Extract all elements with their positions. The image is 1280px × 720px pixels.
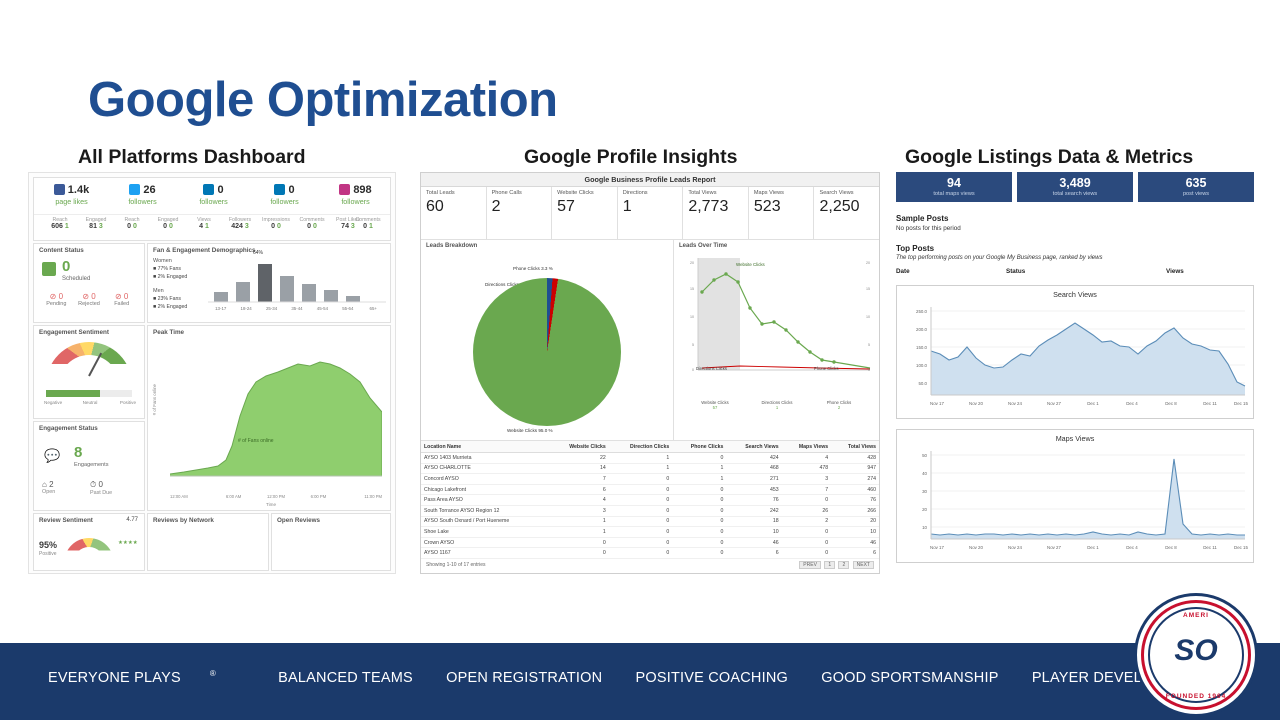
social-stat-facebook: 1.4k page likes xyxy=(36,184,107,206)
scheduled-value: 0 xyxy=(62,258,70,275)
svg-text:5: 5 xyxy=(868,343,870,347)
col-phone-clicks[interactable]: Phone Clicks xyxy=(672,441,726,453)
cell-metric: 0 xyxy=(609,548,672,559)
insights-charts-row: Leads Breakdown Phone Clicks 3.3 % Direc… xyxy=(421,239,879,440)
review-score: 4.77 xyxy=(126,517,138,523)
insights-report-header: Google Business Profile Leads Report xyxy=(421,173,879,187)
sentiment-scale-neu: Neutral xyxy=(75,400,106,405)
svg-text:50.0: 50.0 xyxy=(918,381,927,386)
age-bucket: 65+ xyxy=(361,306,386,311)
cell-metric: 0 xyxy=(549,548,609,559)
engagement-status-title: Engagement Status xyxy=(34,422,144,432)
pager-2[interactable]: 2 xyxy=(838,561,849,569)
cell-metric: 1 xyxy=(672,463,726,474)
cell-metric: 0 xyxy=(609,495,672,506)
cell-metric: 0 xyxy=(782,537,832,548)
sentiment-bar xyxy=(46,390,132,397)
table-row[interactable]: AYSO South Oxnard / Port Hueneme10018220 xyxy=(421,516,879,527)
leads-pie-chart xyxy=(473,278,621,426)
svg-text:15: 15 xyxy=(866,287,870,291)
leads-breakdown-section: Leads Breakdown Phone Clicks 3.3 % Direc… xyxy=(421,240,674,440)
logo-top-text: AMERI xyxy=(1137,612,1255,619)
table-row[interactable]: Pass Area AYSO40076076 xyxy=(421,495,879,506)
engagement-status-card: Engagement Status 💬 8 Engagements ⌂ 2Ope… xyxy=(33,421,145,511)
leads-over-time-title: Leads Over Time xyxy=(674,240,879,249)
age-bucket: 55-64 xyxy=(335,306,360,311)
footer-item-open-registration: OPEN REGISTRATION xyxy=(446,670,602,686)
cell-metric: 0 xyxy=(782,495,832,506)
table-header-row: Location Name Website Clicks Direction C… xyxy=(421,441,879,453)
cell-metric: 0 xyxy=(672,505,726,516)
cell-metric: 0 xyxy=(782,548,832,559)
legend-website: Website Clicks57 xyxy=(684,400,746,410)
svg-text:Dec 1: Dec 1 xyxy=(1087,545,1099,550)
search-views-chart-box: Search Views 250.0200.0150.0100.050.0 No… xyxy=(896,285,1254,419)
maps-views-chart-box: Maps Views 5040302010 Nov 17Nov 20Nov 24… xyxy=(896,429,1254,563)
table-row[interactable]: Concord AYSO7012713274 xyxy=(421,474,879,485)
col-date: Date xyxy=(896,268,1006,275)
column-title-dashboard: All Platforms Dashboard xyxy=(78,146,306,169)
insights-kpi-row: Total Leads60 Phone Calls2 Website Click… xyxy=(421,187,879,239)
cell-location: Concord AYSO xyxy=(421,474,549,485)
search-views-chart: 250.0200.0150.0100.050.0 Nov 17Nov 20Nov… xyxy=(897,299,1253,411)
pager-1[interactable]: 1 xyxy=(824,561,835,569)
pie-label-phone: Phone Clicks 3.3 % xyxy=(513,266,553,271)
cell-location: Shoe Lake xyxy=(421,527,549,538)
metric-search-views: 3,489total search views xyxy=(1017,172,1133,202)
age-bucket: 45-54 xyxy=(310,306,335,311)
peak-time-title: Peak Time xyxy=(148,326,390,336)
peak-time-chart xyxy=(170,342,382,492)
col-views: Views xyxy=(1166,268,1184,275)
svg-text:Dec 8: Dec 8 xyxy=(1165,401,1177,406)
cell-metric: 7 xyxy=(549,474,609,485)
cell-metric: 6 xyxy=(549,484,609,495)
svg-text:Dec 1: Dec 1 xyxy=(1087,401,1099,406)
cell-metric: 3 xyxy=(549,505,609,516)
cell-location: Chicago Lakefront xyxy=(421,484,549,495)
svg-text:0: 0 xyxy=(692,368,694,372)
svg-text:Nov 27: Nov 27 xyxy=(1047,401,1061,406)
cell-location: Crown AYSO xyxy=(421,537,549,548)
google-profile-insights-panel: Google Business Profile Leads Report Tot… xyxy=(420,172,880,574)
cell-metric: 22 xyxy=(549,453,609,464)
svg-text:15: 15 xyxy=(690,287,694,291)
svg-text:Nov 24: Nov 24 xyxy=(1008,401,1022,406)
kpi-search-views: Search Views2,250 xyxy=(814,187,879,239)
listings-metrics-row: 94total maps views 3,489total search vie… xyxy=(896,172,1254,202)
cell-metric: 1 xyxy=(609,463,672,474)
svg-text:5: 5 xyxy=(692,343,694,347)
cell-metric: 46 xyxy=(831,537,879,548)
cell-metric: 6 xyxy=(726,548,781,559)
logo-bottom-text: FOUNDED 1964 xyxy=(1137,693,1255,700)
sentiment-scale-neg: Negative xyxy=(44,400,75,405)
footer-item-everyone-plays: EVERYONE PLAYS® xyxy=(48,670,245,686)
social-stat-linkedin-page: 0 followers xyxy=(249,184,320,206)
open-reviews-title: Open Reviews xyxy=(272,514,390,524)
column-title-listings: Google Listings Data & Metrics xyxy=(905,146,1193,169)
cell-metric: 0 xyxy=(672,516,726,527)
cell-metric: 0 xyxy=(672,453,726,464)
svg-text:Dec 8: Dec 8 xyxy=(1165,545,1177,550)
men-label: Men xyxy=(153,288,164,294)
col-status: Status xyxy=(1006,268,1166,275)
leads-breakdown-title: Leads Breakdown xyxy=(421,240,673,249)
linkedin-page-icon xyxy=(274,184,285,195)
past-due-engagements: ⏱ 0Past Due xyxy=(90,480,138,496)
google-listings-panel: 94total maps views 3,489total search vie… xyxy=(896,172,1254,632)
table-row[interactable]: AYSO 1403 Murrieta22104244428 xyxy=(421,453,879,464)
cell-metric: 0 xyxy=(672,495,726,506)
cell-metric: 0 xyxy=(672,548,726,559)
women-label: Women xyxy=(153,258,172,264)
table-row[interactable]: Chicago Lakefront6004537460 xyxy=(421,484,879,495)
footer-item-good-sportsmanship: GOOD SPORTSMANSHIP xyxy=(821,670,998,686)
table-row[interactable]: Shoe Lake10010010 xyxy=(421,527,879,538)
cell-metric: 1 xyxy=(549,516,609,527)
men-engaged: 2% Engaged xyxy=(158,304,188,310)
svg-text:10: 10 xyxy=(922,525,927,530)
cell-metric: 460 xyxy=(831,484,879,495)
linkedin-value: 0 xyxy=(217,184,223,196)
svg-text:250.0: 250.0 xyxy=(916,309,928,314)
cell-metric: 266 xyxy=(831,505,879,516)
pie-label-website: Website Clicks 95.0 % xyxy=(507,428,553,433)
sample-posts-title: Sample Posts xyxy=(896,214,1254,223)
cell-metric: 3 xyxy=(782,474,832,485)
table-row[interactable]: South Torrance AYSO Region 1230024226266 xyxy=(421,505,879,516)
kpi-website-clicks: Website Clicks57 xyxy=(552,187,618,239)
svg-text:20: 20 xyxy=(922,507,927,512)
over-time-annotation-directions: Directions Clicks xyxy=(696,366,727,371)
linkedin-page-value: 0 xyxy=(288,184,294,196)
column-title-insights: Google Profile Insights xyxy=(524,146,737,169)
table-row[interactable]: AYSO 1167000606 xyxy=(421,548,879,559)
cell-location: South Torrance AYSO Region 12 xyxy=(421,505,549,516)
insights-locations-table: Location Name Website Clicks Direction C… xyxy=(421,440,879,559)
maps-views-title: Maps Views xyxy=(897,430,1253,443)
engagement-sentiment-card: Engagement Sentiment Negative Neutral Po… xyxy=(33,325,145,419)
kpi-total-leads: Total Leads60 xyxy=(421,187,487,239)
review-gauge xyxy=(64,538,114,563)
reviews-by-network-title: Reviews by Network xyxy=(148,514,268,524)
svg-text:Nov 17: Nov 17 xyxy=(930,401,944,406)
peak-tick: 6:00 PM xyxy=(297,494,339,499)
footer-taglines: EVERYONE PLAYS® BALANCED TEAMS OPEN REGI… xyxy=(48,669,1234,686)
table-showing-text: Showing 1-10 of 17 entries xyxy=(426,562,485,568)
facebook-icon xyxy=(54,184,65,195)
pending-item: ⊘ 0Pending xyxy=(40,292,73,307)
kpi-phone-calls: Phone Calls2 xyxy=(487,187,553,239)
peak-tick: 11:00 PM xyxy=(340,494,382,499)
review-pct: 95% xyxy=(39,540,57,550)
twitter-icon xyxy=(129,184,140,195)
chat-icon: 💬 xyxy=(44,448,60,464)
over-time-legend: Website Clicks xyxy=(736,262,765,267)
svg-text:Nov 20: Nov 20 xyxy=(969,401,983,406)
legend-directions: Directions Clicks1 xyxy=(746,400,808,410)
cell-metric: 947 xyxy=(831,463,879,474)
top-posts-columns: Date Status Views xyxy=(896,268,1254,275)
cell-metric: 0 xyxy=(609,527,672,538)
svg-text:0: 0 xyxy=(868,368,870,372)
sentiment-gauge xyxy=(46,342,132,386)
top-age-pct: 64% xyxy=(253,250,263,256)
cell-metric: 0 xyxy=(672,537,726,548)
cell-metric: 10 xyxy=(726,527,781,538)
social-stat-instagram: 898 followers xyxy=(320,184,391,206)
fan-demographics-title: Fan & Engagement Demographics xyxy=(148,244,390,254)
age-bucket: 35-44 xyxy=(284,306,309,311)
search-views-title: Search Views xyxy=(897,286,1253,299)
facebook-label: page likes xyxy=(36,197,107,206)
cell-metric: 242 xyxy=(726,505,781,516)
cell-metric: 428 xyxy=(831,453,879,464)
age-bucket: 25-34 xyxy=(259,306,284,311)
cell-metric: 7 xyxy=(782,484,832,495)
instagram-value: 898 xyxy=(353,184,371,196)
men-fans: 23% Fans xyxy=(158,296,181,302)
leads-over-time-chart: 20151050 20151050 xyxy=(680,252,876,402)
content-status-card: Content Status 0 Scheduled ⊘ 0Pending ⊘ … xyxy=(33,243,145,323)
cell-metric: 0 xyxy=(672,527,726,538)
social-stat-twitter: 26 followers xyxy=(107,184,178,206)
cell-metric: 0 xyxy=(672,484,726,495)
svg-text:200.0: 200.0 xyxy=(916,327,928,332)
cell-metric: 478 xyxy=(782,463,832,474)
kpi-directions: Directions1 xyxy=(618,187,684,239)
svg-text:Nov 24: Nov 24 xyxy=(1008,545,1022,550)
svg-text:20: 20 xyxy=(690,261,694,265)
page-title: Google Optimization xyxy=(88,72,558,128)
age-bucket: 13-17 xyxy=(208,306,233,311)
cell-metric: 274 xyxy=(831,474,879,485)
pager-prev[interactable]: PREV xyxy=(799,561,821,569)
pager-next[interactable]: NEXT xyxy=(853,561,874,569)
peak-tick: 6:00 AM xyxy=(212,494,254,499)
svg-text:Dec 11: Dec 11 xyxy=(1203,401,1217,406)
cell-metric: 1 xyxy=(609,453,672,464)
svg-text:100.0: 100.0 xyxy=(916,363,928,368)
cell-metric: 453 xyxy=(726,484,781,495)
svg-text:50: 50 xyxy=(922,453,927,458)
calendar-icon xyxy=(42,262,56,276)
cell-location: AYSO 1403 Murrieta xyxy=(421,453,549,464)
peak-tick: 12:00 PM xyxy=(255,494,297,499)
top-posts-note: The top performing posts on your Google … xyxy=(896,255,1254,261)
legend-phone: Phone Clicks2 xyxy=(808,400,870,410)
facebook-value: 1.4k xyxy=(68,184,89,196)
table-row[interactable]: AYSO CHARLOTTE1411468478947 xyxy=(421,463,879,474)
svg-text:10: 10 xyxy=(690,315,694,319)
logo-mark: SO xyxy=(1137,634,1255,668)
cell-location: Pass Area AYSO xyxy=(421,495,549,506)
stars-icon: ★★★★ xyxy=(118,540,138,546)
col-website-clicks[interactable]: Website Clicks xyxy=(549,441,609,453)
cell-metric: 46 xyxy=(726,537,781,548)
cell-metric: 4 xyxy=(549,495,609,506)
cell-metric: 20 xyxy=(831,516,879,527)
col-location[interactable]: Location Name xyxy=(421,441,549,453)
instagram-icon xyxy=(339,184,350,195)
social-stat-linkedin: 0 followers xyxy=(178,184,249,206)
peak-series-label: # of Fans online xyxy=(238,438,274,444)
kpi-total-views: Total Views2,773 xyxy=(683,187,749,239)
sample-posts-note: No posts for this period xyxy=(896,225,1254,232)
cell-metric: 0 xyxy=(609,474,672,485)
cell-metric: 6 xyxy=(831,548,879,559)
metric-maps-views: 94total maps views xyxy=(896,172,1012,202)
linkedin-label: followers xyxy=(178,197,249,206)
review-sentiment-card: Review Sentiment 4.77 95% Positive ★★★★ xyxy=(33,513,145,571)
cell-metric: 10 xyxy=(831,527,879,538)
women-engaged: 2% Engaged xyxy=(158,274,188,280)
cell-metric: 0 xyxy=(782,527,832,538)
svg-text:10: 10 xyxy=(866,315,870,319)
col-maps-views[interactable]: Maps Views xyxy=(782,441,832,453)
peak-tick: 12:00 AM xyxy=(170,494,212,499)
col-direction-clicks[interactable]: Direction Clicks xyxy=(609,441,672,453)
cell-metric: 424 xyxy=(726,453,781,464)
leads-over-time-section: Leads Over Time 20151050 20151050 xyxy=(674,240,879,440)
social-summary-card: 1.4k page likes 26 followers 0 followers… xyxy=(33,177,391,241)
reviews-by-network-card: Reviews by Network xyxy=(147,513,269,571)
svg-text:Dec 4: Dec 4 xyxy=(1126,545,1138,550)
cell-metric: 2 xyxy=(782,516,832,527)
svg-text:Nov 20: Nov 20 xyxy=(969,545,983,550)
kpi-maps-views: Maps Views523 xyxy=(749,187,815,239)
svg-text:30: 30 xyxy=(922,489,927,494)
svg-text:Dec 15: Dec 15 xyxy=(1234,401,1248,406)
cell-location: AYSO South Oxnard / Port Hueneme xyxy=(421,516,549,527)
cell-metric: 0 xyxy=(549,537,609,548)
cell-metric: 76 xyxy=(726,495,781,506)
age-bucket: 18-24 xyxy=(233,306,258,311)
slide-footer: EVERYONE PLAYS® BALANCED TEAMS OPEN REGI… xyxy=(0,643,1280,720)
cell-metric: 271 xyxy=(726,474,781,485)
cell-metric: 468 xyxy=(726,463,781,474)
insights-table-footer: Showing 1-10 of 17 entries PREV 1 2 NEXT xyxy=(421,559,879,571)
instagram-label: followers xyxy=(320,197,391,206)
cell-metric: 26 xyxy=(782,505,832,516)
col-search-views[interactable]: Search Views xyxy=(726,441,781,453)
ayso-logo: AMERI SO FOUNDED 1964 xyxy=(1134,593,1258,717)
cell-metric: 0 xyxy=(609,505,672,516)
cell-metric: 4 xyxy=(782,453,832,464)
table-row[interactable]: Crown AYSO00046046 xyxy=(421,537,879,548)
maps-views-chart: 5040302010 Nov 17Nov 20Nov 24Nov 27 Dec … xyxy=(897,443,1253,555)
cell-location: AYSO CHARLOTTE xyxy=(421,463,549,474)
failed-item: ⊘ 0Failed xyxy=(105,292,138,307)
review-pct-label: Positive xyxy=(39,551,57,557)
col-total-views[interactable]: Total Views xyxy=(831,441,879,453)
svg-text:Dec 4: Dec 4 xyxy=(1126,401,1138,406)
sentiment-scale-pos: Positive xyxy=(105,400,136,405)
social-delta-row: Reach606 1 Engaged81 3 Reach0 0 Engaged0… xyxy=(34,214,390,239)
footer-item-positive-coaching: POSITIVE COACHING xyxy=(636,670,788,686)
cell-metric: 1 xyxy=(549,527,609,538)
women-fans: 77% Fans xyxy=(158,266,181,272)
cell-metric: 1 xyxy=(672,474,726,485)
slide-root: Google Optimization All Platforms Dashbo… xyxy=(0,0,1280,720)
cell-metric: 18 xyxy=(726,516,781,527)
top-posts-title: Top Posts xyxy=(896,244,1254,253)
twitter-label: followers xyxy=(107,197,178,206)
metric-post-views: 635post views xyxy=(1138,172,1254,202)
linkedin-icon xyxy=(203,184,214,195)
scheduled-label: Scheduled xyxy=(62,276,90,282)
peak-time-card: Peak Time # of Fans online # of Fans onl… xyxy=(147,325,391,511)
peak-y-label: # of Fans online xyxy=(152,384,157,415)
cell-metric: 0 xyxy=(609,537,672,548)
svg-text:40: 40 xyxy=(922,471,927,476)
over-time-annotation-phone: Phone Clicks xyxy=(814,366,838,371)
rejected-item: ⊘ 0Rejected xyxy=(73,292,106,307)
engagements-value: 8 xyxy=(74,444,82,461)
all-platforms-dashboard-panel: 1.4k page likes 26 followers 0 followers… xyxy=(28,172,396,574)
svg-text:20: 20 xyxy=(866,261,870,265)
footer-item-balanced-teams: BALANCED TEAMS xyxy=(278,670,413,686)
svg-text:Nov 17: Nov 17 xyxy=(930,545,944,550)
svg-text:Dec 11: Dec 11 xyxy=(1203,545,1217,550)
svg-text:Nov 27: Nov 27 xyxy=(1047,545,1061,550)
open-reviews-card: Open Reviews xyxy=(271,513,391,571)
engagement-sentiment-title: Engagement Sentiment xyxy=(34,326,144,336)
svg-text:150.0: 150.0 xyxy=(916,345,928,350)
stat-cell: Comments0 1 xyxy=(346,217,390,230)
twitter-value: 26 xyxy=(143,184,155,196)
cell-metric: 76 xyxy=(831,495,879,506)
cell-metric: 0 xyxy=(609,484,672,495)
open-engagements: ⌂ 2Open xyxy=(42,480,90,496)
cell-metric: 14 xyxy=(549,463,609,474)
fan-demographics-card: Fan & Engagement Demographics Women ■ 77… xyxy=(147,243,391,323)
linkedin-page-label: followers xyxy=(249,197,320,206)
peak-x-label: Time xyxy=(266,502,276,507)
engagements-label: Engagements xyxy=(74,462,109,468)
svg-text:Dec 15: Dec 15 xyxy=(1234,545,1248,550)
cell-metric: 0 xyxy=(609,516,672,527)
cell-location: AYSO 1167 xyxy=(421,548,549,559)
content-status-title: Content Status xyxy=(34,244,144,254)
